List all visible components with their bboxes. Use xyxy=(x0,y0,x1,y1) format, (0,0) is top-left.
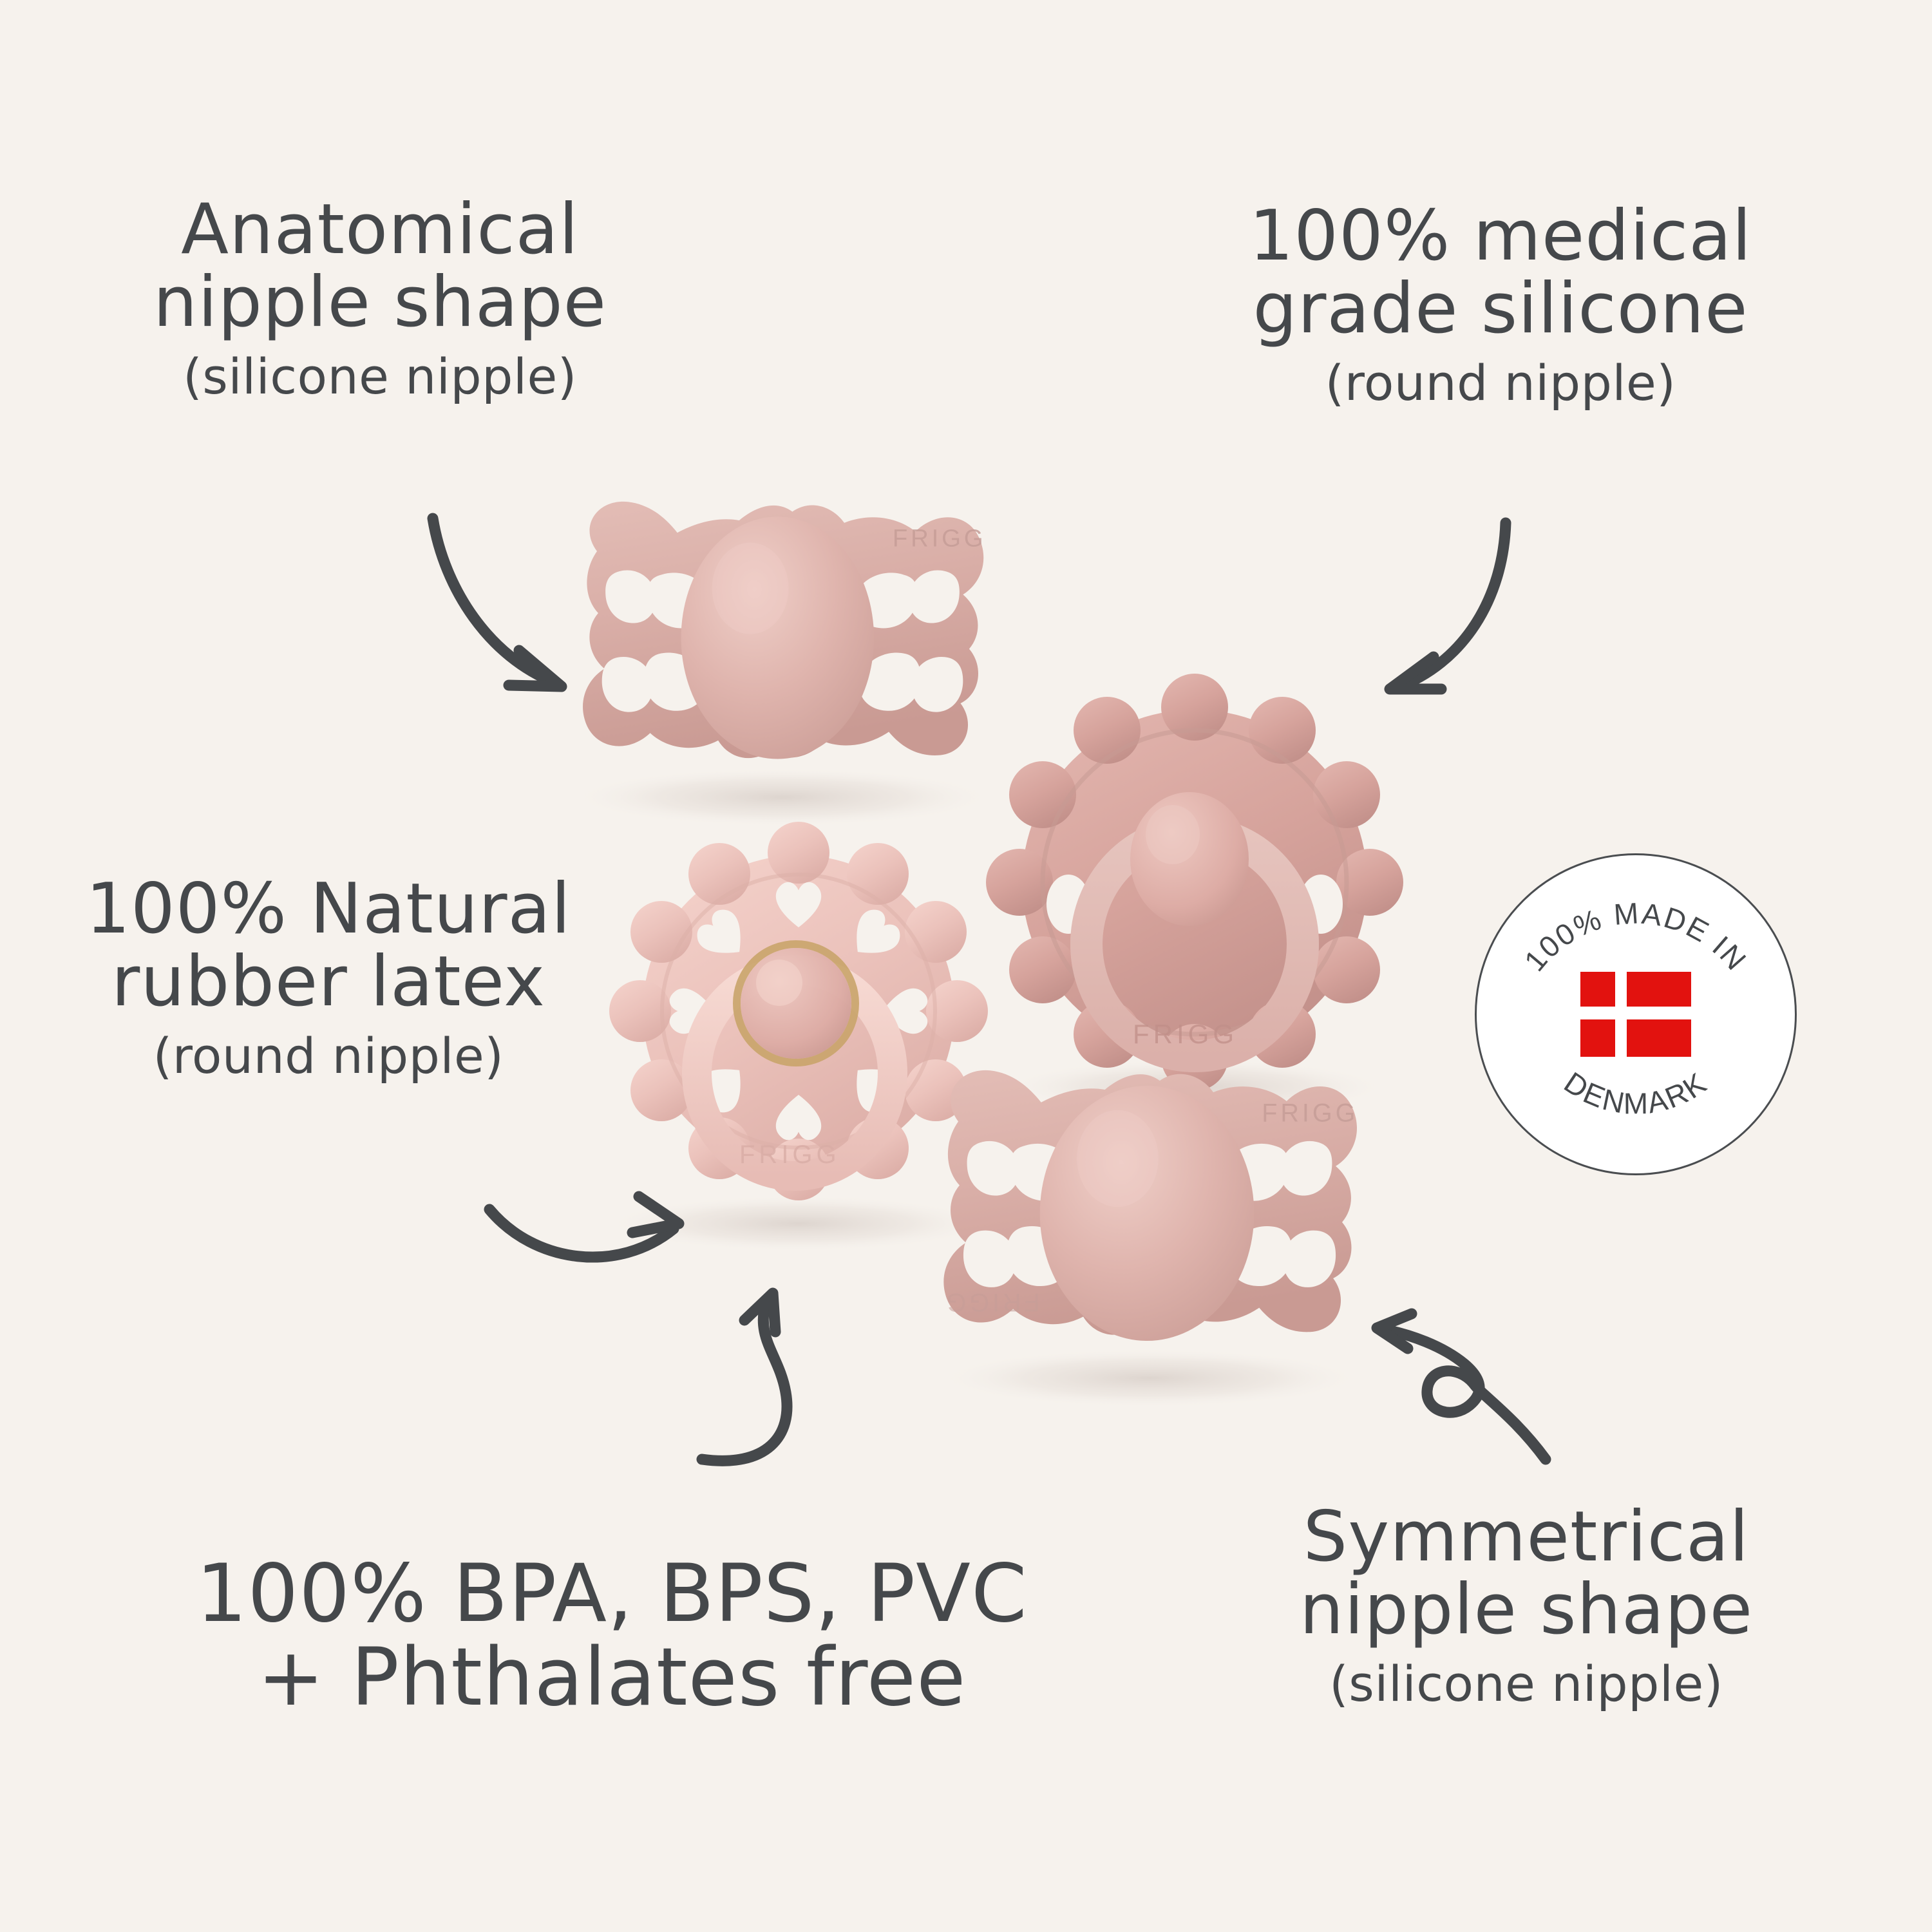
product-butterfly-top-left: FRIGG xyxy=(583,502,986,759)
callout-symmetrical-sub: (silicone nipple) xyxy=(1198,1658,1855,1710)
callout-anatomical-line1: Anatomical xyxy=(97,193,663,266)
product-daisy-right: FRIGG xyxy=(986,674,1403,1091)
callout-latex-sub: (round nipple) xyxy=(19,1030,638,1082)
callout-symmetrical-line1: Symmetrical xyxy=(1198,1501,1855,1573)
product-butterfly-bottom-right: FRIGG FRIGG xyxy=(943,1070,1359,1341)
flag-quadrant-top-left xyxy=(1580,972,1615,1007)
arrow-to-anatomical xyxy=(433,518,562,687)
product-latex-daisy-hearts: FRIGG xyxy=(609,822,988,1200)
flag-quadrant-top-right xyxy=(1627,972,1691,1007)
callout-medical-line1: 100% medical xyxy=(1179,200,1823,272)
callout-medical: 100% medical grade silicone (round nippl… xyxy=(1179,200,1823,409)
callout-anatomical-sub: (silicone nipple) xyxy=(97,351,663,402)
danish-flag-icon xyxy=(1580,972,1691,1057)
callout-latex: 100% Natural rubber latex (round nipple) xyxy=(19,873,638,1082)
infographic-canvas: FRIGG xyxy=(0,0,1932,1932)
callout-bpa-line2: + Phthalates free xyxy=(90,1636,1133,1719)
arrow-to-latex xyxy=(489,1197,679,1257)
callout-latex-line2: rubber latex xyxy=(19,945,638,1018)
brand-emboss-frigg-mirrored: FRIGG xyxy=(943,1288,1040,1316)
callout-bpa-line1: 100% BPA, BPS, PVC xyxy=(90,1552,1133,1636)
arrow-to-symmetrical xyxy=(1377,1314,1546,1459)
callout-medical-line2: grade silicone xyxy=(1179,272,1823,345)
flag-quadrant-bottom-right xyxy=(1627,1019,1691,1057)
brand-emboss-frigg: FRIGG xyxy=(1262,1099,1358,1128)
callout-symmetrical-line2: nipple shape xyxy=(1198,1573,1855,1646)
brand-emboss-frigg: FRIGG xyxy=(893,524,987,552)
made-in-denmark-badge: 100% MADE IN DENMARK xyxy=(1475,853,1797,1175)
callout-anatomical: Anatomical nipple shape (silicone nipple… xyxy=(97,193,663,402)
arrow-to-bpa xyxy=(702,1293,787,1461)
callout-latex-line1: 100% Natural xyxy=(19,873,638,945)
callout-bpa: 100% BPA, BPS, PVC + Phthalates free xyxy=(90,1552,1133,1719)
callout-medical-sub: (round nipple) xyxy=(1179,357,1823,409)
callout-symmetrical: Symmetrical nipple shape (silicone nippl… xyxy=(1198,1501,1855,1710)
callout-anatomical-line2: nipple shape xyxy=(97,266,663,339)
badge-top-textpath: 100% MADE IN xyxy=(1517,896,1754,977)
flag-quadrant-bottom-left xyxy=(1580,1019,1615,1057)
brand-emboss-frigg: FRIGG xyxy=(1133,1019,1238,1049)
badge-bottom-textpath: DENMARK xyxy=(1558,1065,1714,1120)
brand-emboss-frigg: FRIGG xyxy=(739,1141,840,1169)
badge-bottom-text: DENMARK xyxy=(1558,1065,1714,1120)
arrow-to-medical xyxy=(1390,523,1506,689)
badge-top-text: 100% MADE IN xyxy=(1517,896,1754,977)
